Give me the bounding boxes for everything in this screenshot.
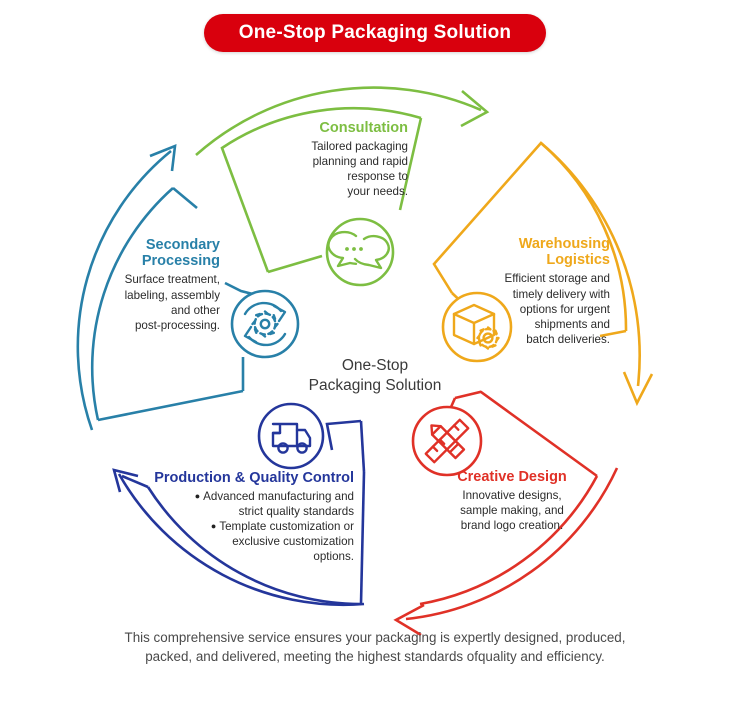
title-line: Logistics — [546, 252, 610, 268]
title-banner: One-Stop Packaging Solution — [204, 14, 546, 52]
body-line: Tailored packaging — [311, 140, 408, 153]
center-line-1: One-Stop — [342, 357, 408, 374]
body-line: Innovative designs, — [462, 489, 561, 502]
gear-refresh-icon — [232, 291, 298, 357]
body-line: sample making, and — [460, 504, 564, 517]
segment-title-creative: Creative Design — [432, 469, 592, 485]
body-line: your needs. — [347, 185, 408, 198]
body-line: strict quality standards — [239, 505, 354, 518]
footer-line-1: This comprehensive service ensures your … — [125, 630, 626, 645]
body-line: Template customization or — [219, 520, 354, 533]
segment-body-production: ●Advanced manufacturing and strict quali… — [142, 489, 354, 564]
center-line-2: Packaging Solution — [309, 377, 442, 394]
body-line: and other — [171, 304, 220, 317]
segment-body-warehousing: Efficient storage and timely delivery wi… — [470, 271, 610, 346]
body-line: Advanced manufacturing and — [203, 490, 354, 503]
bullet-glyph: ● — [211, 521, 216, 531]
footer-divider — [88, 618, 662, 619]
segment-creative: Creative Design Innovative designs, samp… — [432, 469, 592, 533]
ruler-pencil-icon — [413, 407, 481, 475]
body-line: options for urgent — [520, 303, 610, 316]
footer-line-2: packed, and delivered, meeting the highe… — [145, 649, 605, 664]
body-line: post-processing. — [135, 319, 220, 332]
segment-title-warehousing: Warehousing Logistics — [470, 236, 610, 268]
segment-title-consultation: Consultation — [250, 120, 408, 136]
segment-body-consultation: Tailored packaging planning and rapid re… — [250, 139, 408, 199]
chat-bubbles-icon — [327, 219, 393, 285]
title-line: Secondary — [146, 237, 220, 253]
body-line: response to — [347, 170, 408, 183]
body-line: Surface treatment, — [125, 273, 220, 286]
segment-production: Production & Quality Control ●Advanced m… — [142, 470, 354, 565]
segment-body-secondary: Surface treatment, labeling, assembly an… — [108, 272, 220, 332]
segment-warehousing: Warehousing Logistics Efficient storage … — [470, 236, 610, 347]
body-line: planning and rapid — [313, 155, 408, 168]
footer-caption: This comprehensive service ensures your … — [60, 628, 690, 667]
body-line: timely delivery with — [513, 288, 610, 301]
body-line: labeling, assembly — [125, 289, 220, 302]
body-line: Efficient storage and — [505, 272, 611, 285]
segment-body-creative: Innovative designs, sample making, and b… — [432, 488, 592, 533]
center-label: One-Stop Packaging Solution — [275, 356, 475, 396]
body-line: options. — [313, 550, 354, 563]
body-line: shipments and — [535, 318, 610, 331]
segment-consultation: Consultation Tailored packaging planning… — [250, 120, 408, 199]
body-line: exclusive customization — [232, 535, 354, 548]
delivery-truck-icon — [259, 404, 323, 468]
title-line: Processing — [142, 253, 220, 269]
body-line: brand logo creation. — [461, 519, 563, 532]
body-line: batch deliveries. — [526, 333, 610, 346]
segment-title-production: Production & Quality Control — [142, 470, 354, 486]
infographic-canvas: .petal{fill:none;stroke-width:2.6;stroke… — [0, 0, 750, 701]
title-line: Warehousing — [519, 236, 610, 252]
page-title: One-Stop Packaging Solution — [239, 22, 511, 44]
segment-secondary: Secondary Processing Surface treatment, … — [108, 237, 220, 333]
bullet-glyph: ● — [195, 491, 200, 501]
cycle-diagram: .petal{fill:none;stroke-width:2.6;stroke… — [0, 0, 750, 701]
segment-title-secondary: Secondary Processing — [108, 237, 220, 269]
